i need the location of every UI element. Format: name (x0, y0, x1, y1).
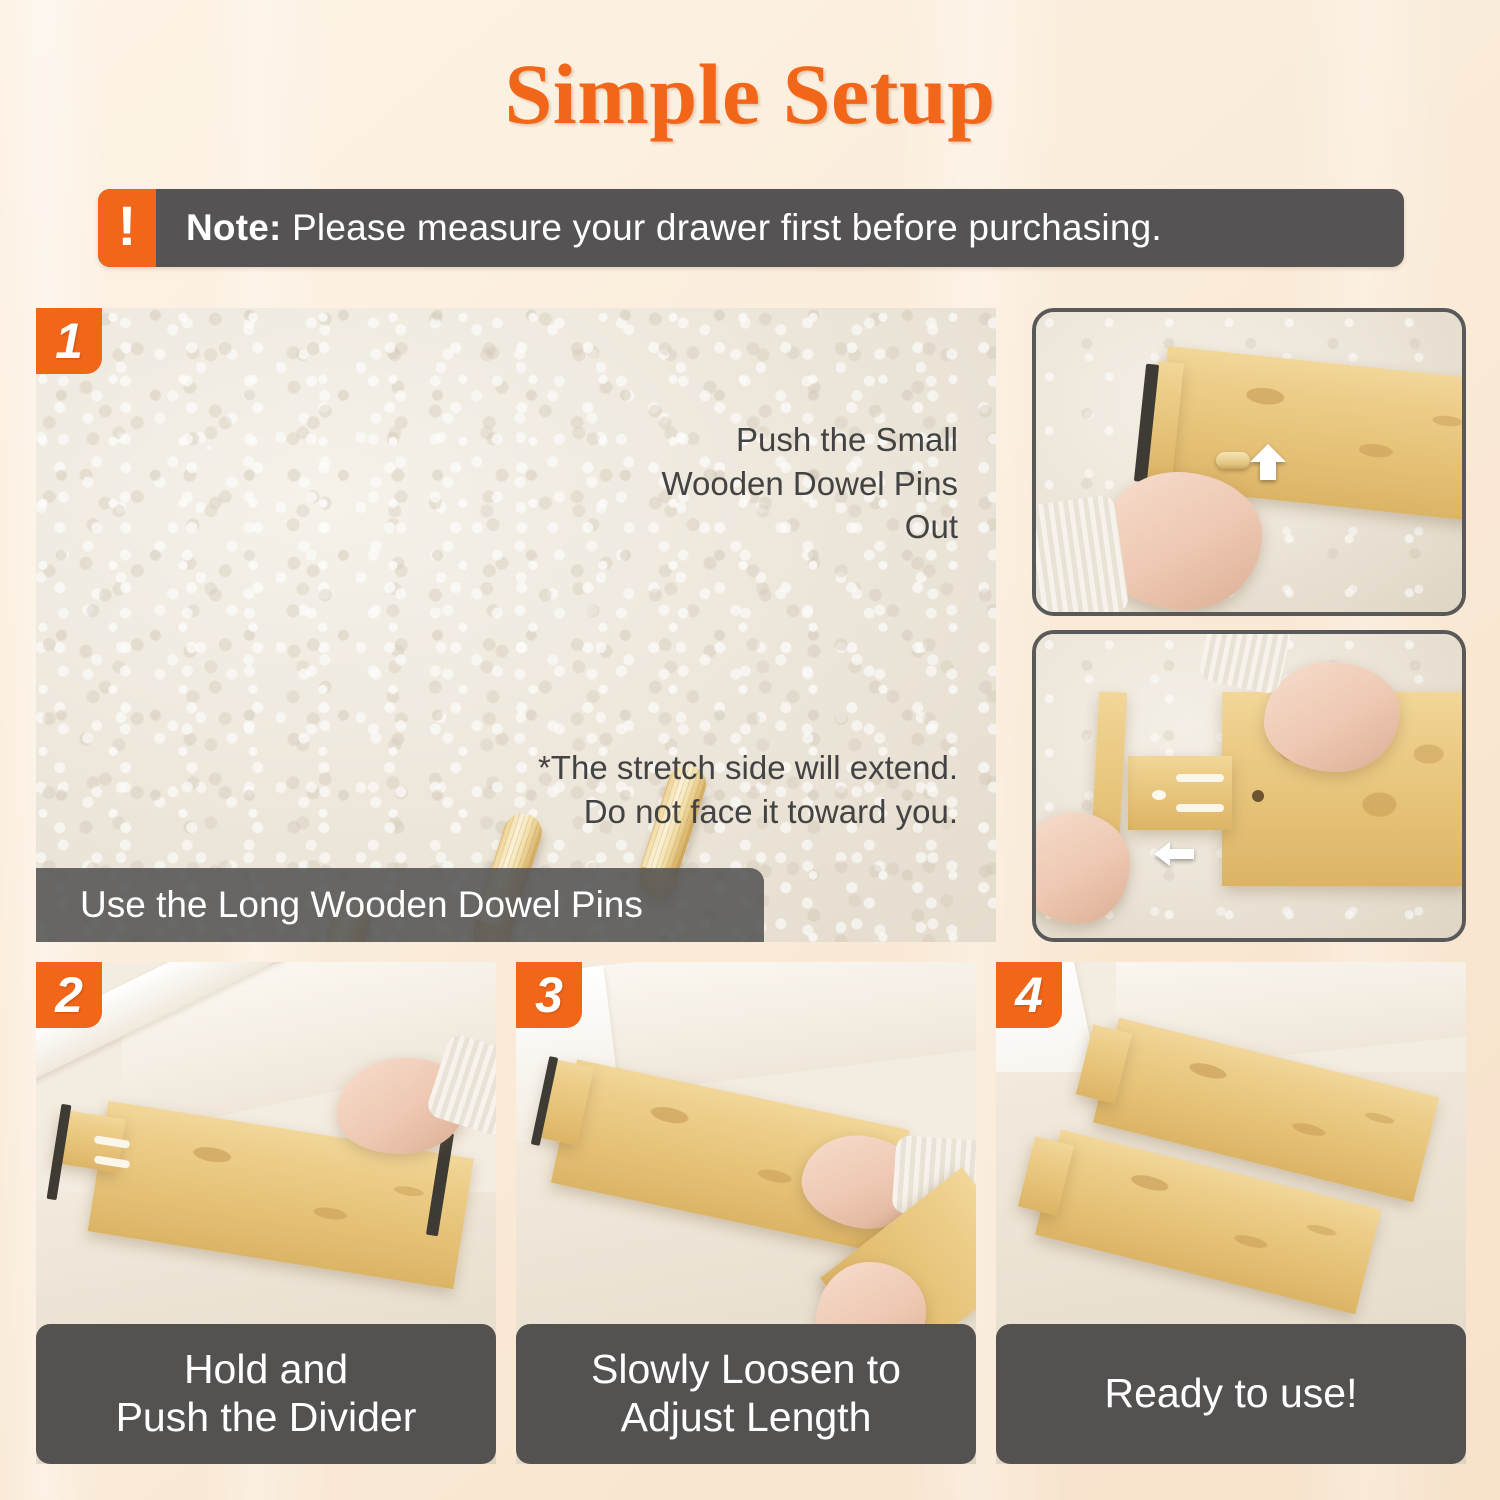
note-banner: ! Note: Please measure your drawer first… (98, 189, 1404, 267)
sweater-sleeve (1032, 494, 1130, 616)
step-4-caption-line-1: Ready to use! (1105, 1370, 1358, 1418)
rail-slot (1176, 804, 1224, 812)
inset-slide-divider (1032, 630, 1466, 942)
step-2-caption-line-2: Push the Divider (116, 1394, 417, 1442)
note-label: Note: (186, 207, 282, 248)
board-hole (1252, 790, 1264, 802)
hint-stretch-line-1: *The stretch side will extend. (438, 746, 958, 790)
inset-push-pin-out (1032, 308, 1466, 616)
step-3-caption: Slowly Loosen to Adjust Length (516, 1324, 976, 1464)
step-1-caption: Use the Long Wooden Dowel Pins (36, 868, 764, 942)
note-banner-text: Note: Please measure your drawer first b… (156, 207, 1162, 249)
step-2-photo: Hold and Push the Divider (36, 962, 496, 1464)
step-1-photo: Push the Small Wooden Dowel Pins Out *Th… (36, 308, 996, 942)
hint-push-dowel-pins: Push the Small Wooden Dowel Pins Out (658, 418, 958, 549)
exclamation-mark-icon: ! (98, 189, 156, 267)
rail-slot (1176, 774, 1224, 782)
step-3-caption-line-1: Slowly Loosen to (591, 1346, 901, 1394)
bamboo-sliding-rail (1128, 756, 1232, 830)
page-title: Simple Setup (0, 44, 1500, 144)
hint-stretch-line-2: Do not face it toward you. (438, 790, 958, 834)
arrow-left-icon (1152, 840, 1196, 868)
step-3-badge: 3 (516, 962, 582, 1028)
rail-hole (1152, 790, 1166, 800)
step-4-caption: Ready to use! (996, 1324, 1466, 1464)
step-2-badge: 2 (36, 962, 102, 1028)
small-dowel-pin (1216, 452, 1250, 469)
arrow-up-icon (1246, 442, 1292, 482)
step-3-caption-line-2: Adjust Length (621, 1394, 872, 1442)
step-3-photo: Slowly Loosen to Adjust Length (516, 962, 976, 1464)
step-1-badge: 1 (36, 308, 102, 374)
step-2-caption: Hold and Push the Divider (36, 1324, 496, 1464)
note-message: Please measure your drawer first before … (282, 207, 1162, 248)
hint-stretch-side: *The stretch side will extend. Do not fa… (438, 746, 958, 833)
hand (1264, 662, 1400, 772)
step-4-badge: 4 (996, 962, 1062, 1028)
step-4-photo: Ready to use! (996, 962, 1466, 1464)
step-2-caption-line-1: Hold and (184, 1346, 348, 1394)
